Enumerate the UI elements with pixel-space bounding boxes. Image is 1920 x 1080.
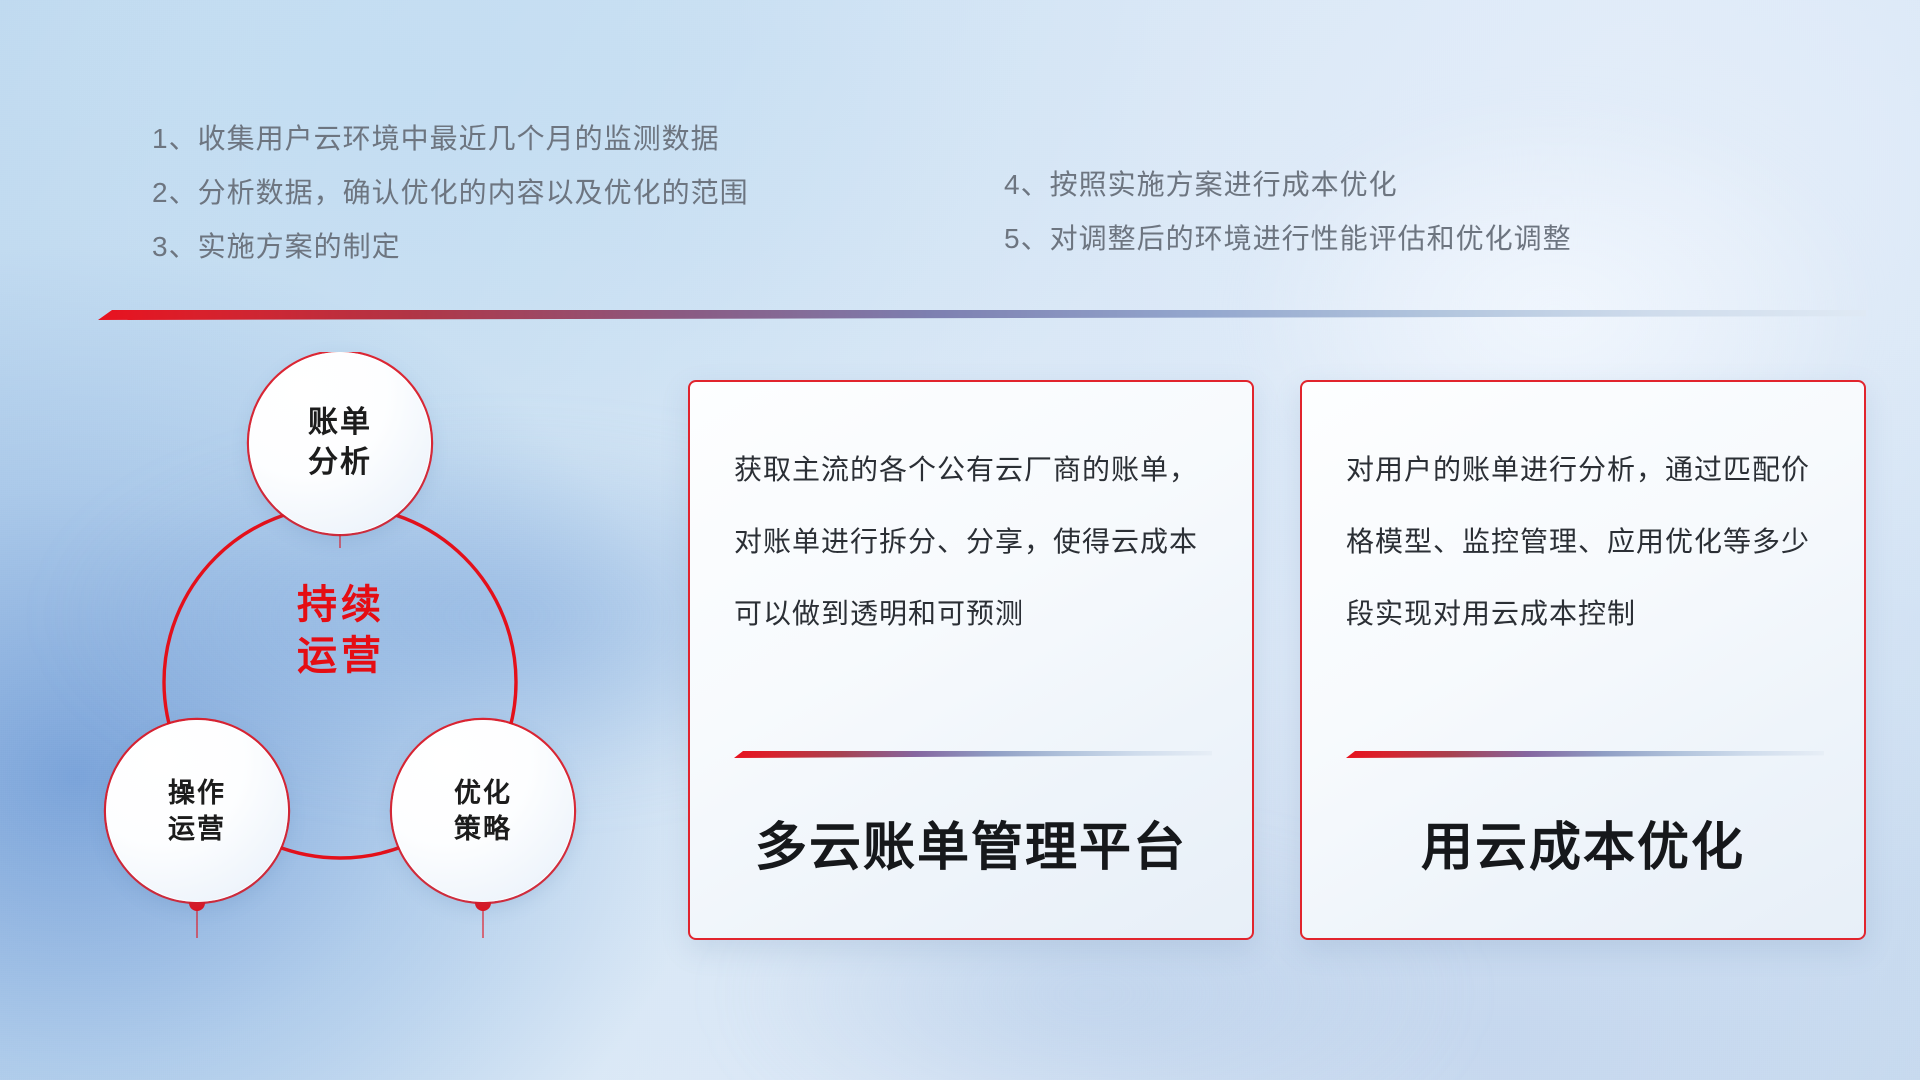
step-item-3: 3、实施方案的制定 [152,220,749,274]
card-multi-cloud-billing-platform[interactable]: 获取主流的各个公有云厂商的账单，对账单进行拆分、分享，使得云成本可以做到透明和可… [688,380,1254,940]
divider-bar [98,310,1866,320]
card-1-body: 获取主流的各个公有云厂商的账单，对账单进行拆分、分享，使得云成本可以做到透明和可… [734,434,1208,692]
venn-node-operations[interactable]: 操作 运营 [106,720,288,902]
venn-node-bill-analysis-line2: 分析 [308,443,372,483]
steps-right-column: 4、按照实施方案进行成本优化 5、对调整后的环境进行性能评估和优化调整 [1004,158,1572,266]
venn-node-operations-line1: 操作 [168,775,226,811]
step-item-1: 1、收集用户云环境中最近几个月的监测数据 [152,112,749,166]
venn-node-optimization-strategy[interactable]: 优化 策略 [392,720,574,902]
card-1-rule [734,751,1212,758]
venn-center-line1: 持续 [256,580,426,631]
venn-node-operations-line2: 运营 [168,811,226,847]
steps-left-column: 1、收集用户云环境中最近几个月的监测数据 2、分析数据，确认优化的内容以及优化的… [152,112,749,274]
venn-node-bill-analysis[interactable]: 账单 分析 [249,352,431,534]
slide-canvas: 1、收集用户云环境中最近几个月的监测数据 2、分析数据，确认优化的内容以及优化的… [0,0,1920,1080]
venn-node-optimization-strategy-line1: 优化 [454,775,512,811]
section-divider [98,310,1866,320]
step-item-2: 2、分析数据，确认优化的内容以及优化的范围 [152,166,749,220]
step-item-5: 5、对调整后的环境进行性能评估和优化调整 [1004,212,1572,266]
venn-node-bill-analysis-line1: 账单 [308,403,372,443]
card-2-body: 对用户的账单进行分析，通过匹配价格模型、监控管理、应用优化等多少段实现对用云成本… [1346,434,1820,692]
venn-center-line2: 运营 [256,631,426,682]
venn-node-optimization-strategy-line2: 策略 [454,811,512,847]
card-cloud-cost-optimization[interactable]: 对用户的账单进行分析，通过匹配价格模型、监控管理、应用优化等多少段实现对用云成本… [1300,380,1866,940]
card-1-title: 多云账单管理平台 [690,805,1252,880]
venn-diagram: 账单 分析 操作 运营 优化 策略 持续 运营 [96,352,636,952]
venn-center-label: 持续 运营 [256,580,426,682]
step-item-4: 4、按照实施方案进行成本优化 [1004,158,1572,212]
card-2-rule [1346,751,1824,758]
card-2-title: 用云成本优化 [1302,805,1864,880]
